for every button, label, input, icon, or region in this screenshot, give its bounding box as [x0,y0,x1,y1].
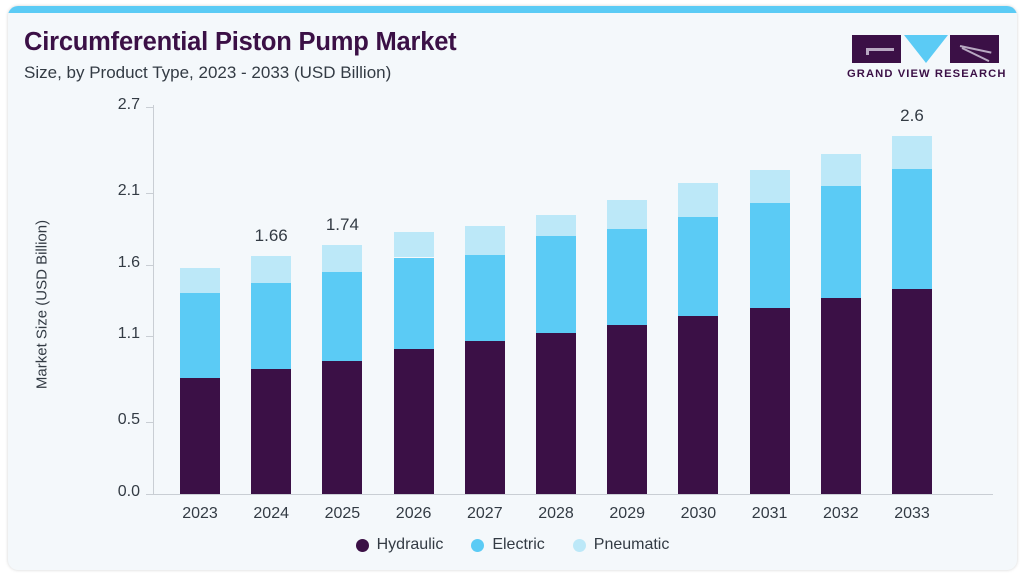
legend-item-pneumatic[interactable]: Pneumatic [573,536,670,554]
bar-segment-hydraulic[interactable] [180,378,220,494]
legend-swatch-icon [573,539,586,552]
x-axis-tick-label: 2027 [445,505,525,523]
legend-swatch-icon [471,539,484,552]
x-axis-tick-label: 2033 [872,505,952,523]
bar-group-2032[interactable] [821,6,861,494]
y-axis-tick-label: 2.7 [80,96,140,114]
y-axis-tick-label: 0.5 [80,411,140,429]
bar-segment-pneumatic[interactable] [251,256,291,283]
bar-segment-hydraulic[interactable] [394,349,434,494]
bar-segment-pneumatic[interactable] [465,226,505,255]
bar-segment-electric[interactable] [536,236,576,333]
legend-item-label: Electric [492,536,544,554]
bar-segment-pneumatic[interactable] [536,215,576,237]
x-axis-tick-label: 2029 [587,505,667,523]
bar-segment-pneumatic[interactable] [180,268,220,294]
x-axis-tick-label: 2032 [801,505,881,523]
bar-segment-pneumatic[interactable] [821,154,861,186]
x-axis-line [153,494,993,495]
bar-group-2026[interactable] [394,6,434,494]
bar-segment-pneumatic[interactable] [892,136,932,169]
bar-value-label: 1.66 [231,226,311,246]
x-axis-tick-label: 2023 [160,505,240,523]
bar-segment-pneumatic[interactable] [394,232,434,258]
bar-group-2029[interactable] [607,6,647,494]
bar-segment-electric[interactable] [750,203,790,308]
bar-segment-hydraulic[interactable] [678,316,718,494]
x-axis-tick-label: 2026 [374,505,454,523]
y-axis-tick [146,422,154,423]
bar-segment-hydraulic[interactable] [892,289,932,494]
chart-card: Circumferential Piston Pump Market Size,… [8,6,1017,570]
x-axis-tick-label: 2031 [730,505,810,523]
bar-segment-electric[interactable] [180,293,220,378]
bar-value-label: 2.6 [872,106,952,126]
bar-segment-electric[interactable] [821,186,861,298]
chart-legend: HydraulicElectricPneumatic [8,536,1017,554]
y-axis-tick-label: 1.6 [80,254,140,272]
bar-segment-hydraulic[interactable] [536,333,576,494]
legend-item-hydraulic[interactable]: Hydraulic [356,536,444,554]
y-axis-tick-label: 1.1 [80,325,140,343]
bar-segment-hydraulic[interactable] [251,369,291,494]
legend-item-label: Hydraulic [377,536,444,554]
bar-segment-hydraulic[interactable] [607,325,647,494]
bar-group-2025[interactable] [322,6,362,494]
bar-group-2028[interactable] [536,6,576,494]
y-axis-tick [146,336,154,337]
bar-group-2030[interactable] [678,6,718,494]
y-axis-tick [146,107,154,108]
y-axis-tick [146,494,154,495]
bar-segment-electric[interactable] [678,217,718,316]
bar-segment-electric[interactable] [322,272,362,361]
bar-group-2024[interactable] [251,6,291,494]
bar-segment-hydraulic[interactable] [821,298,861,494]
bar-group-2033[interactable] [892,6,932,494]
y-axis-line [153,105,154,494]
bar-segment-electric[interactable] [892,169,932,289]
bar-value-label: 1.74 [302,215,382,235]
bar-segment-pneumatic[interactable] [678,183,718,217]
y-axis-tick-label: 0.0 [80,483,140,501]
legend-item-electric[interactable]: Electric [471,536,544,554]
bar-segment-electric[interactable] [394,258,434,350]
x-axis-tick-label: 2030 [658,505,738,523]
bar-segment-pneumatic[interactable] [322,245,362,272]
x-axis-tick-label: 2024 [231,505,311,523]
x-axis-tick-label: 2025 [302,505,382,523]
bar-segment-electric[interactable] [607,229,647,325]
bar-segment-hydraulic[interactable] [322,361,362,494]
y-axis-tick [146,265,154,266]
bar-segment-electric[interactable] [465,255,505,341]
y-axis-tick [146,193,154,194]
bar-segment-hydraulic[interactable] [465,341,505,494]
chart-plot-area: Market Size (USD Billion) 0.00.51.11.62.… [8,6,1017,570]
bar-segment-pneumatic[interactable] [607,200,647,229]
y-axis-title: Market Size (USD Billion) [34,175,51,435]
bar-segment-electric[interactable] [251,283,291,369]
x-axis-tick-label: 2028 [516,505,596,523]
y-axis-tick-label: 2.1 [80,182,140,200]
legend-item-label: Pneumatic [594,536,670,554]
bar-group-2031[interactable] [750,6,790,494]
bar-segment-pneumatic[interactable] [750,170,790,203]
bar-group-2023[interactable] [180,6,220,494]
legend-swatch-icon [356,539,369,552]
bar-group-2027[interactable] [465,6,505,494]
bar-segment-hydraulic[interactable] [750,308,790,494]
